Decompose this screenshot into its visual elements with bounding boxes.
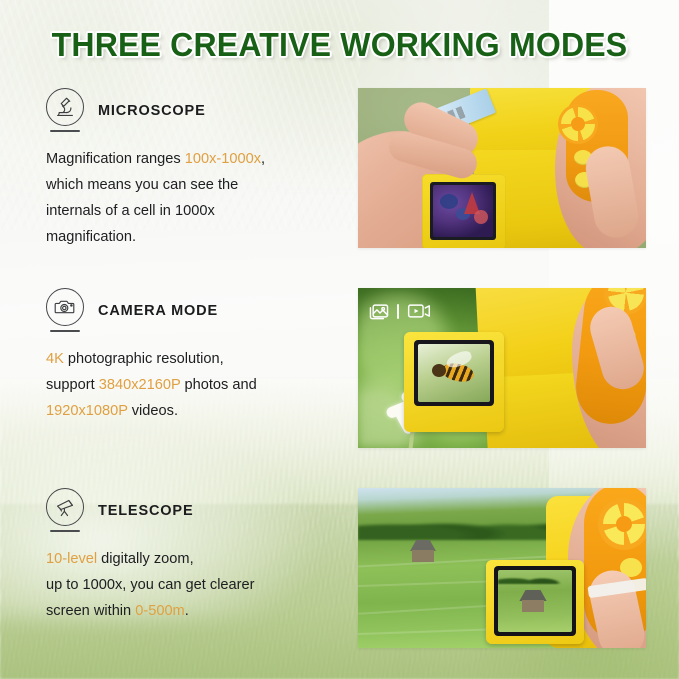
- microscope-text-column: MICROSCOPE Magnification ranges 100x-100…: [46, 88, 346, 250]
- text-run: photographic resolution,: [64, 351, 224, 367]
- screen-content-landscape: [498, 570, 572, 632]
- highlight-run: 100x-1000x: [185, 151, 261, 167]
- highlight-run: 4K: [46, 351, 64, 367]
- telescope-icon: [46, 488, 84, 526]
- hut-wall: [412, 550, 434, 562]
- telescope-line-3: screen within 0-500m.: [46, 598, 346, 624]
- cell-blob-1: [440, 194, 458, 209]
- camera-line-3: 1920x1080P videos.: [46, 398, 346, 424]
- video-mode-icon: [406, 302, 432, 320]
- page-title: THREE CREATIVE WORKING MODES: [10, 26, 669, 64]
- camera-icon: [46, 288, 84, 326]
- microscope-line-3: internals of a cell in 1000x: [46, 198, 346, 224]
- telescope-icon-underline: [50, 530, 80, 532]
- text-run: .: [185, 603, 189, 619]
- screen-hut-wall: [522, 600, 544, 612]
- camera-mode-photo: [358, 288, 646, 448]
- camera-line-1: 4K photographic resolution,: [46, 346, 346, 372]
- bee-head: [432, 364, 446, 377]
- telescope-label: TELESCOPE: [98, 503, 193, 519]
- microscope-line-1: Magnification ranges 100x-1000x,: [46, 146, 346, 172]
- telescope-text-column: TELESCOPE 10-level digitally zoom, up to…: [46, 488, 346, 624]
- camera-text-column: CAMERA MODE 4K photographic resolution, …: [46, 288, 346, 424]
- text-run: ,: [261, 151, 265, 167]
- screen-content-bee: [418, 344, 490, 402]
- text-run: digitally zoom,: [97, 551, 194, 567]
- cell-blob-4: [474, 210, 488, 224]
- screen-tree-line: [498, 570, 572, 584]
- telescope-photo: [358, 488, 646, 648]
- camera-screen: [494, 566, 576, 636]
- highlight-run: 3840x2160P: [99, 377, 181, 393]
- camera-screen: [430, 182, 496, 240]
- dpad-control: [598, 498, 646, 550]
- camera-icon-underline: [50, 330, 80, 332]
- microscope-line-2: which means you can see the: [46, 172, 346, 198]
- telescope-line-2: up to 1000x, you can get clearer: [46, 572, 346, 598]
- telescope-icon-wrap: [46, 488, 86, 534]
- text-run: screen within: [46, 603, 135, 619]
- telescope-description: 10-level digitally zoom, up to 1000x, yo…: [46, 546, 346, 624]
- camera-header: CAMERA MODE: [46, 288, 346, 334]
- microscope-header: MICROSCOPE: [46, 88, 346, 134]
- camera-icon-wrap: [46, 288, 86, 334]
- telescope-line-1: 10-level digitally zoom,: [46, 546, 346, 572]
- field-hut: [406, 540, 440, 562]
- text-run: photos and: [180, 377, 256, 393]
- microscope-icon-underline: [50, 130, 80, 132]
- highlight-run: 1920x1080P: [46, 403, 128, 419]
- telescope-header: TELESCOPE: [46, 488, 346, 534]
- text-run: support: [46, 377, 99, 393]
- highlight-run: 0-500m: [135, 603, 184, 619]
- microscope-icon: [46, 88, 84, 126]
- microscope-description: Magnification ranges 100x-1000x, which m…: [46, 146, 346, 250]
- camera-description: 4K photographic resolution, support 3840…: [46, 346, 346, 424]
- microscope-line-4: magnification.: [46, 224, 346, 250]
- dpad-control: [558, 104, 598, 144]
- microscope-slide-photo: [358, 88, 646, 248]
- screen-content-cells: [433, 185, 493, 237]
- microscope-icon-wrap: [46, 88, 86, 134]
- text-run: Magnification ranges: [46, 151, 185, 167]
- mode-separator: [397, 304, 399, 319]
- photo-mode-icon: [368, 302, 390, 320]
- camera-screen: [414, 340, 494, 406]
- text-run: videos.: [128, 403, 178, 419]
- camera-line-2: support 3840x2160P photos and: [46, 372, 346, 398]
- highlight-run: 10-level: [46, 551, 97, 567]
- camera-label: CAMERA MODE: [98, 303, 218, 319]
- microscope-label: MICROSCOPE: [98, 103, 206, 119]
- mode-icon-overlay: [368, 302, 432, 320]
- screen-hut: [516, 590, 550, 612]
